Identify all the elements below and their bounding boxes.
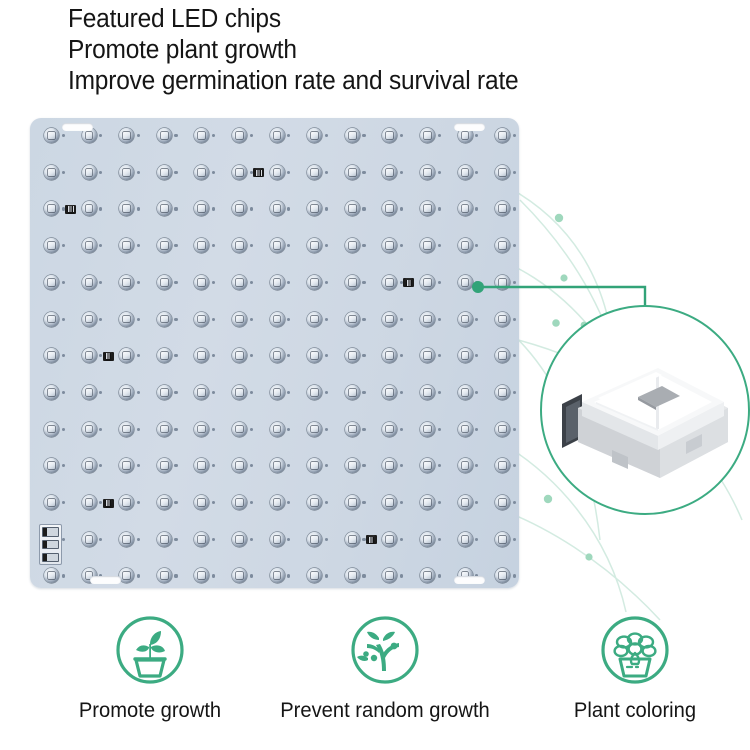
led-die <box>198 536 205 543</box>
led-chip <box>270 128 287 145</box>
led-die <box>198 132 205 139</box>
solder-pad-dot <box>174 244 177 247</box>
led-die <box>48 242 55 249</box>
led-die <box>386 132 393 139</box>
led-die <box>349 132 356 139</box>
led-die <box>274 316 281 323</box>
solder-pad-dot <box>400 464 403 467</box>
led-die <box>274 426 281 433</box>
led-die <box>349 316 356 323</box>
led-body <box>232 495 247 510</box>
led-body <box>82 275 97 290</box>
led-body <box>194 238 209 253</box>
led-body <box>194 422 209 437</box>
led-die <box>236 536 243 543</box>
led-chip <box>232 165 249 182</box>
led-body <box>194 165 209 180</box>
solder-pad-dot <box>325 134 328 137</box>
led-body <box>495 348 510 363</box>
led-chip <box>82 165 99 182</box>
led-chip <box>458 532 475 549</box>
led-die <box>198 499 205 506</box>
led-die <box>424 132 431 139</box>
solder-pad-dot <box>137 538 140 541</box>
led-chip <box>194 568 211 585</box>
led-body <box>495 128 510 143</box>
led-die <box>499 572 506 579</box>
solder-pad-dot <box>62 281 65 284</box>
led-die <box>424 426 431 433</box>
led-chip <box>345 422 362 439</box>
solder-pad-dot <box>287 501 290 504</box>
led-chip <box>458 128 475 145</box>
led-die <box>386 205 393 212</box>
led-die <box>161 279 168 286</box>
led-body <box>458 201 473 216</box>
solder-pad-dot <box>475 244 478 247</box>
led-chip <box>82 128 99 145</box>
led-body <box>420 165 435 180</box>
led-body <box>345 128 360 143</box>
led-chip <box>345 348 362 365</box>
led-body <box>44 422 59 437</box>
solder-pad-dot <box>325 354 328 357</box>
solder-pad-dot <box>438 318 441 321</box>
solder-pad-dot <box>438 207 441 210</box>
led-chip <box>232 458 249 475</box>
led-body <box>458 495 473 510</box>
led-body <box>194 275 209 290</box>
led-chip <box>495 238 512 255</box>
led-chip <box>44 348 61 365</box>
led-chip <box>44 568 61 585</box>
solder-pad-dot <box>513 464 516 467</box>
led-chip <box>119 422 136 439</box>
led-chip <box>157 495 174 512</box>
led-chip <box>44 165 61 182</box>
solder-pad-dot <box>212 354 215 357</box>
solder-pad-dot <box>174 574 177 577</box>
led-body <box>194 458 209 473</box>
led-chip <box>345 275 362 292</box>
led-die <box>462 242 469 249</box>
led-die <box>424 462 431 469</box>
solder-pad-dot <box>325 171 328 174</box>
led-die <box>274 352 281 359</box>
led-body <box>194 312 209 327</box>
led-body <box>458 532 473 547</box>
connector-pin <box>42 540 59 550</box>
led-die <box>499 536 506 543</box>
led-chip <box>495 128 512 145</box>
solder-pad-dot <box>62 391 65 394</box>
led-die <box>48 205 55 212</box>
led-die <box>48 572 55 579</box>
led-die <box>198 389 205 396</box>
feature-item-plant-coloring[interactable]: Plant coloring <box>520 614 750 723</box>
led-body <box>345 275 360 290</box>
led-chip <box>82 532 99 549</box>
led-die <box>236 572 243 579</box>
led-chip <box>119 348 136 365</box>
solder-pad-dot <box>250 428 253 431</box>
led-chip <box>44 275 61 292</box>
led-chip <box>458 422 475 439</box>
led-chip <box>270 238 287 255</box>
solder-pad-dot <box>137 281 140 284</box>
solder-pad-dot <box>137 318 140 321</box>
led-body <box>44 128 59 143</box>
solder-pad-dot <box>513 134 516 137</box>
feature-label: Prevent random growth <box>275 698 496 723</box>
led-chip <box>307 495 324 512</box>
led-chip <box>119 385 136 402</box>
led-die <box>462 279 469 286</box>
solder-pad-dot <box>325 281 328 284</box>
solder-pad-dot <box>212 281 215 284</box>
smd-resistor <box>65 205 76 214</box>
led-chip <box>194 238 211 255</box>
led-chip <box>157 422 174 439</box>
led-die <box>424 316 431 323</box>
solder-pad-dot <box>137 244 140 247</box>
led-body <box>307 422 322 437</box>
led-die <box>86 536 93 543</box>
solder-pad-dot <box>62 538 65 541</box>
solder-pad-dot <box>513 207 516 210</box>
solder-pad-dot <box>174 318 177 321</box>
led-body <box>382 568 397 583</box>
led-chip <box>194 458 211 475</box>
led-die <box>349 572 356 579</box>
connector-block[interactable] <box>39 524 62 565</box>
solder-pad-dot <box>438 538 441 541</box>
led-die <box>123 242 130 249</box>
led-chip <box>270 312 287 329</box>
led-die <box>86 426 93 433</box>
led-body <box>157 238 172 253</box>
headline-line-3: Improve germination rate and survival ra… <box>68 66 692 97</box>
led-chip <box>382 165 399 182</box>
led-die <box>123 132 130 139</box>
led-chip <box>82 348 99 365</box>
led-die <box>236 389 243 396</box>
solder-pad-dot <box>62 464 65 467</box>
solder-pad-dot <box>99 207 102 210</box>
led-die <box>198 316 205 323</box>
solder-pad-dot <box>362 428 365 431</box>
led-die <box>349 389 356 396</box>
led-die <box>161 426 168 433</box>
led-chip <box>119 275 136 292</box>
led-body <box>345 422 360 437</box>
led-chip <box>270 275 287 292</box>
led-body <box>307 165 322 180</box>
solder-pad-dot <box>174 207 177 210</box>
led-panel[interactable] <box>30 118 519 588</box>
smd-resistor <box>253 168 264 177</box>
solder-pad-dot <box>475 318 478 321</box>
led-chip <box>157 348 174 365</box>
led-body <box>382 238 397 253</box>
solder-pad-dot <box>250 501 253 504</box>
led-body <box>458 238 473 253</box>
led-die <box>198 462 205 469</box>
mounting-slot-top-right <box>454 123 485 131</box>
solder-pad-dot <box>513 281 516 284</box>
solder-pad-dot <box>287 538 290 541</box>
led-body <box>119 128 134 143</box>
led-body <box>420 348 435 363</box>
solder-pad-dot <box>475 391 478 394</box>
solder-pad-dot <box>400 354 403 357</box>
solder-pad-dot <box>325 574 328 577</box>
feature-list: Promote growth Prevent random growth <box>0 614 750 750</box>
led-body <box>495 201 510 216</box>
led-chip <box>345 201 362 218</box>
led-die <box>123 389 130 396</box>
led-die <box>123 279 130 286</box>
led-body <box>194 568 209 583</box>
led-body <box>420 275 435 290</box>
led-body <box>119 458 134 473</box>
led-body <box>119 275 134 290</box>
led-body <box>345 495 360 510</box>
solder-pad-dot <box>212 574 215 577</box>
led-body <box>345 312 360 327</box>
led-chip <box>420 238 437 255</box>
led-chip <box>307 165 324 182</box>
solder-pad-dot <box>174 171 177 174</box>
led-chip <box>382 275 399 292</box>
led-body <box>119 238 134 253</box>
led-body <box>194 201 209 216</box>
mounting-slot-bottom-left <box>90 576 121 584</box>
led-die <box>274 169 281 176</box>
led-chip <box>232 238 249 255</box>
solder-pad-dot <box>62 134 65 137</box>
led-chip <box>345 128 362 145</box>
led-body <box>157 422 172 437</box>
led-body <box>307 238 322 253</box>
led-body <box>458 312 473 327</box>
led-body <box>270 458 285 473</box>
led-die <box>274 462 281 469</box>
led-chip <box>382 422 399 439</box>
solder-pad-dot <box>513 354 516 357</box>
led-chip <box>82 201 99 218</box>
led-die <box>198 426 205 433</box>
led-chip <box>82 275 99 292</box>
solder-pad-dot <box>438 354 441 357</box>
led-body <box>495 238 510 253</box>
solder-pad-dot <box>287 134 290 137</box>
led-chip <box>307 532 324 549</box>
led-chip <box>420 568 437 585</box>
led-chip <box>307 568 324 585</box>
solder-pad-dot <box>174 464 177 467</box>
led-body <box>270 238 285 253</box>
led-body <box>270 568 285 583</box>
solder-pad-dot <box>325 538 328 541</box>
led-body <box>270 128 285 143</box>
led-chip <box>82 495 99 512</box>
led-die <box>462 462 469 469</box>
led-die <box>236 499 243 506</box>
led-body <box>420 495 435 510</box>
led-chip <box>307 275 324 292</box>
solder-pad-dot <box>99 538 102 541</box>
led-body <box>157 201 172 216</box>
led-body <box>44 201 59 216</box>
led-body <box>307 201 322 216</box>
solder-pad-dot <box>212 391 215 394</box>
led-chip <box>270 458 287 475</box>
led-die <box>198 352 205 359</box>
led-body <box>345 165 360 180</box>
smd-resistor <box>366 535 377 544</box>
led-die <box>311 462 318 469</box>
led-body <box>270 422 285 437</box>
led-chip <box>44 458 61 475</box>
led-chip <box>382 128 399 145</box>
led-body <box>420 568 435 583</box>
led-chip <box>458 385 475 402</box>
solder-pad-dot <box>212 207 215 210</box>
led-chip <box>194 165 211 182</box>
led-body <box>307 385 322 400</box>
led-die <box>462 316 469 323</box>
smd-resistor <box>103 499 114 508</box>
solder-pad-dot <box>62 318 65 321</box>
led-chip <box>119 495 136 512</box>
solder-pad-dot <box>137 428 140 431</box>
led-chip <box>307 385 324 402</box>
led-chip <box>420 275 437 292</box>
led-die <box>499 352 506 359</box>
led-body <box>382 422 397 437</box>
led-die <box>123 462 130 469</box>
led-body <box>420 128 435 143</box>
solder-pad-dot <box>287 391 290 394</box>
led-chip <box>44 238 61 255</box>
led-chip <box>194 385 211 402</box>
led-body <box>232 312 247 327</box>
solder-pad-dot <box>99 318 102 321</box>
solder-pad-dot <box>250 391 253 394</box>
solder-pad-dot <box>212 134 215 137</box>
led-body <box>307 532 322 547</box>
solder-pad-dot <box>174 428 177 431</box>
led-body <box>458 348 473 363</box>
led-body <box>420 532 435 547</box>
led-body <box>157 495 172 510</box>
led-die <box>424 572 431 579</box>
led-body <box>157 458 172 473</box>
led-body <box>44 312 59 327</box>
led-body <box>194 495 209 510</box>
solder-pad-dot <box>362 134 365 137</box>
solder-pad-dot <box>325 428 328 431</box>
led-die <box>274 389 281 396</box>
solder-pad-dot <box>400 134 403 137</box>
led-body <box>270 532 285 547</box>
smd-resistor <box>103 352 114 361</box>
solder-pad-dot <box>513 244 516 247</box>
led-die <box>349 499 356 506</box>
solder-pad-dot <box>99 391 102 394</box>
connector-pin <box>42 553 59 563</box>
led-chip <box>194 422 211 439</box>
led-die <box>386 536 393 543</box>
solder-pad-dot <box>137 207 140 210</box>
led-chip <box>420 348 437 365</box>
solder-pad-dot <box>325 501 328 504</box>
headline-line-1: Featured LED chips <box>68 4 692 35</box>
led-die <box>236 426 243 433</box>
led-chip <box>495 385 512 402</box>
led-chip <box>345 568 362 585</box>
solder-pad-dot <box>99 134 102 137</box>
led-body <box>382 385 397 400</box>
feature-label: Promote growth <box>40 698 261 723</box>
feature-item-promote-growth[interactable]: Promote growth <box>35 614 265 723</box>
solder-pad-dot <box>250 318 253 321</box>
led-die <box>48 316 55 323</box>
led-die <box>386 352 393 359</box>
led-body <box>495 458 510 473</box>
led-body <box>382 458 397 473</box>
solder-pad-dot <box>325 318 328 321</box>
led-body <box>232 422 247 437</box>
led-chip <box>458 495 475 512</box>
led-die <box>161 316 168 323</box>
led-body <box>495 165 510 180</box>
led-chip <box>44 495 61 512</box>
led-chip <box>495 165 512 182</box>
solder-pad-dot <box>287 281 290 284</box>
led-body <box>119 201 134 216</box>
led-die <box>311 389 318 396</box>
solder-pad-dot <box>362 354 365 357</box>
led-body <box>307 458 322 473</box>
feature-item-prevent-random-growth[interactable]: Prevent random growth <box>270 614 500 723</box>
led-die <box>499 132 506 139</box>
led-body <box>345 348 360 363</box>
solder-pad-dot <box>400 207 403 210</box>
led-die <box>86 205 93 212</box>
led-body <box>345 385 360 400</box>
led-die <box>161 169 168 176</box>
led-chip <box>82 422 99 439</box>
solder-pad-dot <box>250 354 253 357</box>
led-body <box>307 348 322 363</box>
led-chip <box>44 422 61 439</box>
solder-pad-dot <box>362 318 365 321</box>
led-die <box>386 279 393 286</box>
led-body <box>119 568 134 583</box>
led-body <box>82 165 97 180</box>
solder-pad-dot <box>287 354 290 357</box>
smd-resistor <box>403 278 414 287</box>
led-chip <box>157 532 174 549</box>
led-chip <box>119 312 136 329</box>
led-body <box>420 201 435 216</box>
solder-pad-dot <box>250 134 253 137</box>
solder-pad-dot <box>212 428 215 431</box>
solder-pad-dot <box>287 207 290 210</box>
led-body <box>458 385 473 400</box>
